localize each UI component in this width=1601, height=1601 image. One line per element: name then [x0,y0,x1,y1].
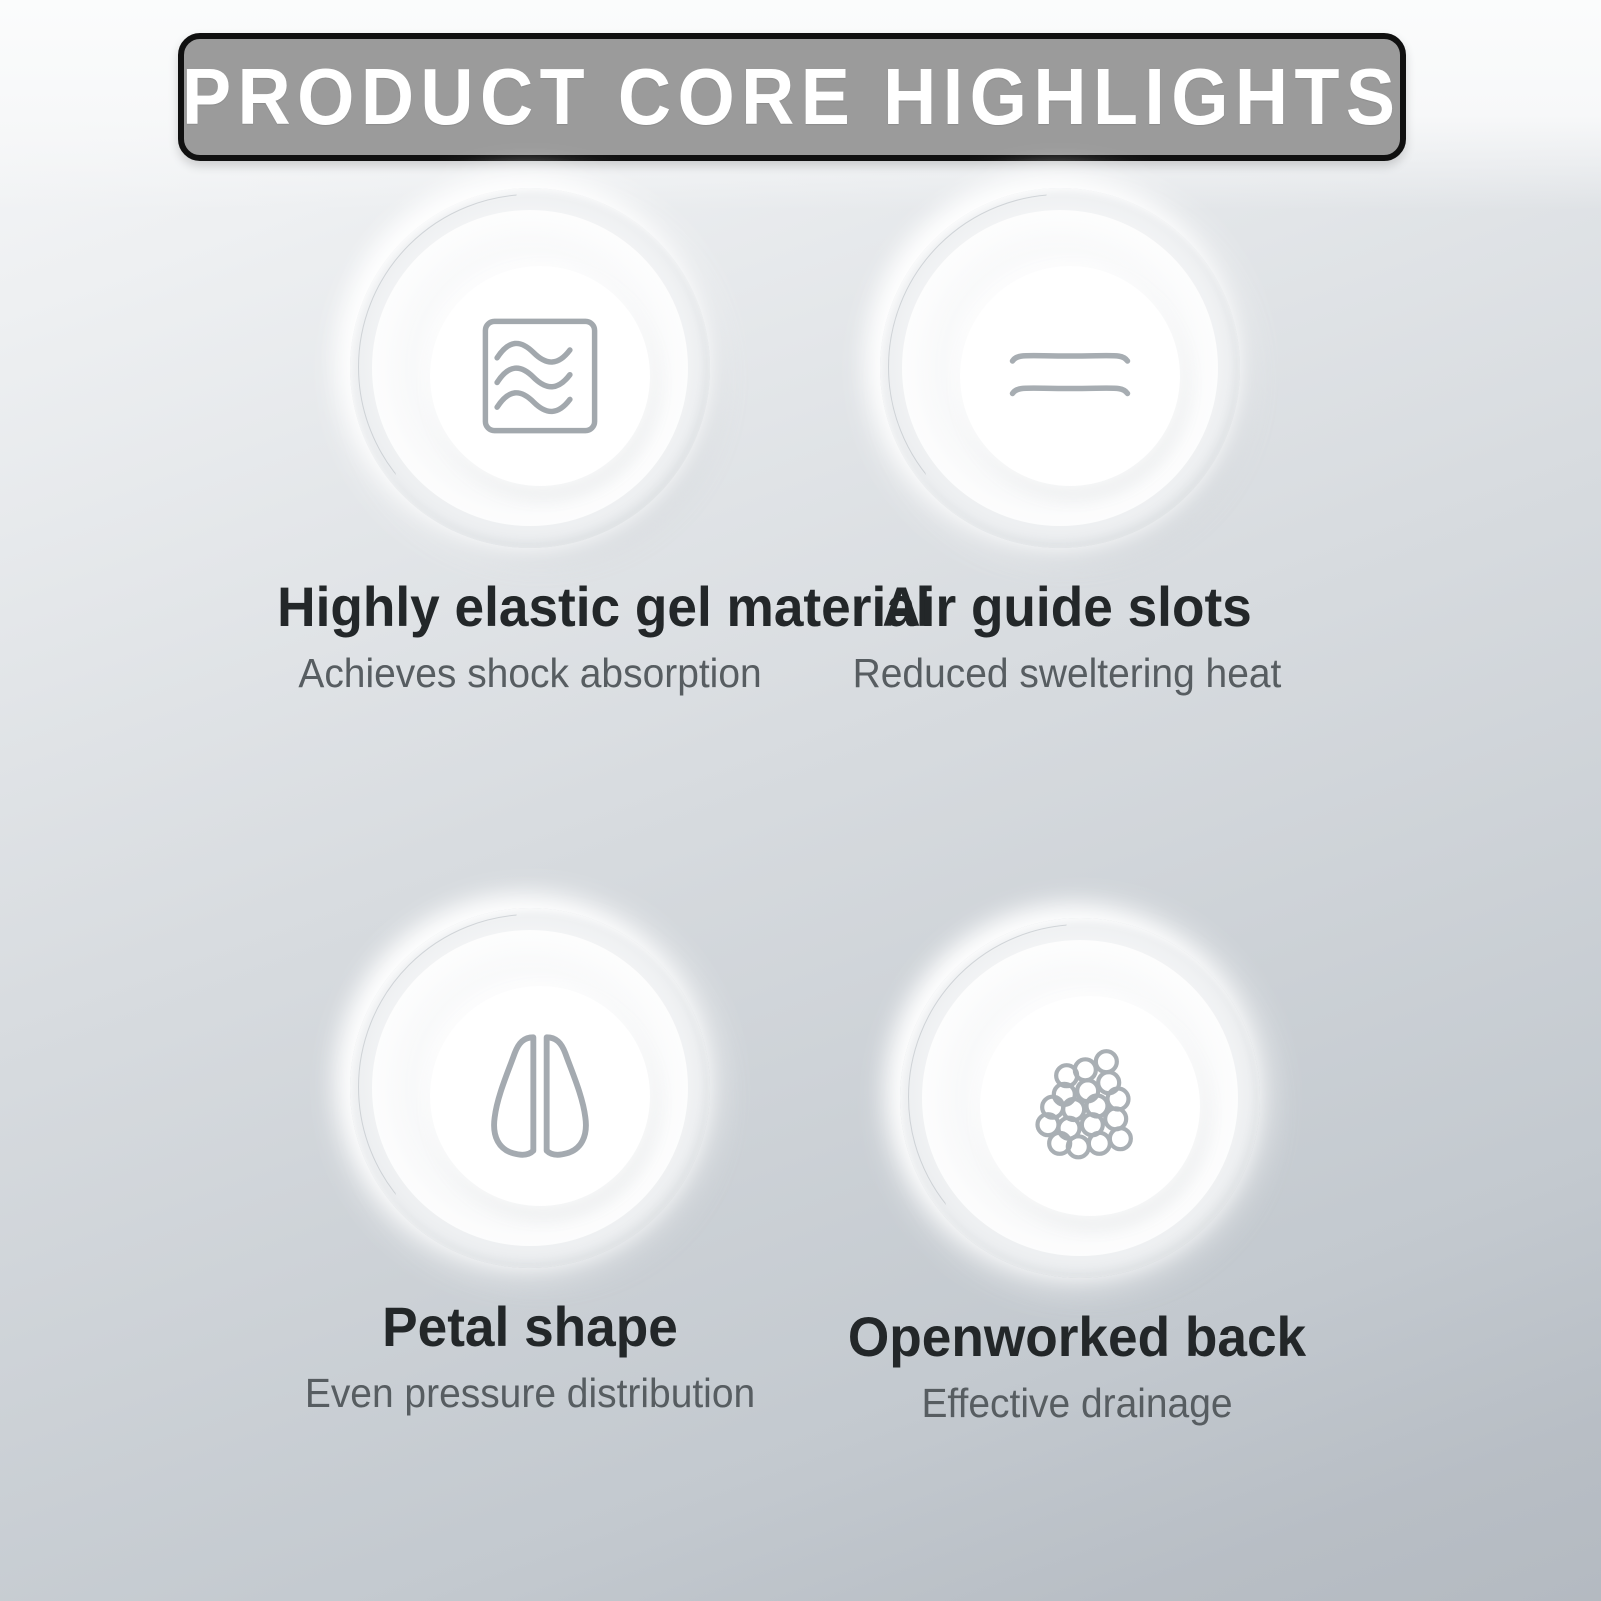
air-slots-icon [995,301,1145,451]
feature-card-petal-shape: Petal shape Even pressure distribution [270,908,790,1416]
feature-title: Highly elastic gel material [277,578,777,637]
feature-disc [350,908,710,1268]
disc-face [960,266,1180,486]
feature-disc [350,188,710,548]
wave-square-icon [475,311,605,441]
disc-face [980,996,1200,1216]
page-title: PRODUCT CORE HIGHLIGHTS [182,57,1401,137]
feature-subtitle: Achieves shock absorption [283,651,777,696]
header-banner: PRODUCT CORE HIGHLIGHTS [178,33,1406,161]
feature-card-gel-material: Highly elastic gel material Achieves sho… [270,188,790,696]
disc-face [430,986,650,1206]
perforated-rings-icon [1020,1036,1160,1176]
disc-face [430,266,650,486]
feature-disc [900,918,1260,1278]
feature-subtitle: Even pressure distribution [283,1371,777,1416]
feature-title: Openworked back [827,1308,1327,1367]
feature-title: Petal shape [283,1298,777,1357]
feature-card-air-guide-slots: Air guide slots Reduced sweltering heat [800,188,1320,696]
product-highlights-infographic: PRODUCT CORE HIGHLIGHTS Highly elastic g… [0,0,1601,1601]
feature-disc [880,188,1240,548]
feature-title: Air guide slots [827,578,1308,637]
petal-halves-icon [460,1016,620,1176]
feature-subtitle: Reduced sweltering heat [827,651,1308,696]
feature-card-openworked-back: Openworked back Effective drainage [820,918,1340,1426]
feature-subtitle: Effective drainage [827,1381,1327,1426]
